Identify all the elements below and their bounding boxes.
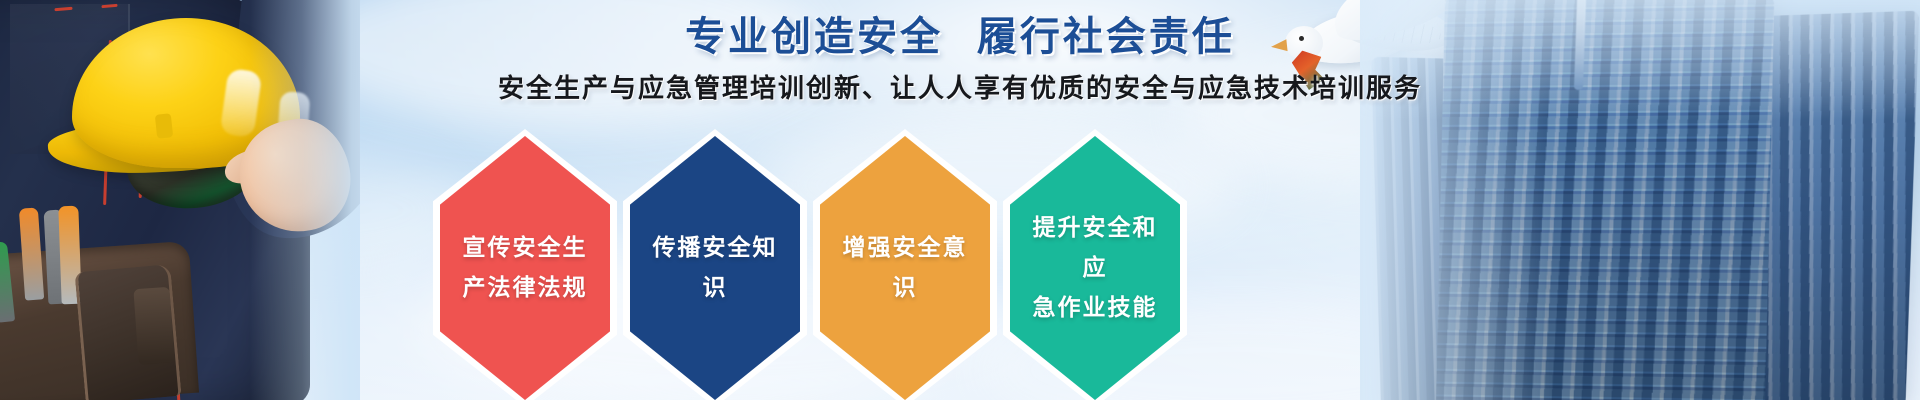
hexagon-shape: 增强安全意识 (820, 136, 990, 400)
helmet-rib (155, 113, 173, 139)
safety-training-banner: 专业创造安全 履行社会责任 安全生产与应急管理培训创新、让人人享有优质的安全与应… (0, 0, 1920, 400)
tool-pouch-tab (133, 287, 174, 365)
banner-subheadline: 安全生产与应急管理培训创新、让人人享有优质的安全与应急技术培训服务 (0, 68, 1920, 105)
hexagon-item[interactable]: 提升安全和应 急作业技能 (1010, 136, 1180, 400)
hexagon-shape: 宣传安全生 产法律法规 (440, 136, 610, 400)
hexagon-item[interactable]: 增强安全意识 (820, 136, 990, 400)
hexagon-item[interactable]: 传播安全知识 (630, 136, 800, 400)
hexagon-label: 传播安全知识 (644, 228, 786, 309)
hexagon-shape: 提升安全和应 急作业技能 (1010, 136, 1180, 400)
hexagon-label: 提升安全和应 急作业技能 (1024, 208, 1166, 329)
banner-headline: 专业创造安全 履行社会责任 (0, 4, 1920, 62)
hexagon-label: 宣传安全生 产法律法规 (463, 228, 588, 309)
hexagon-label: 增强安全意识 (834, 228, 976, 309)
hexagon-shape: 传播安全知识 (630, 136, 800, 400)
feature-hexagon-row: 宣传安全生 产法律法规 传播安全知识 增强安全意识 提升安全和应 急作业技能 (440, 136, 1180, 400)
hexagon-item[interactable]: 宣传安全生 产法律法规 (440, 136, 610, 400)
